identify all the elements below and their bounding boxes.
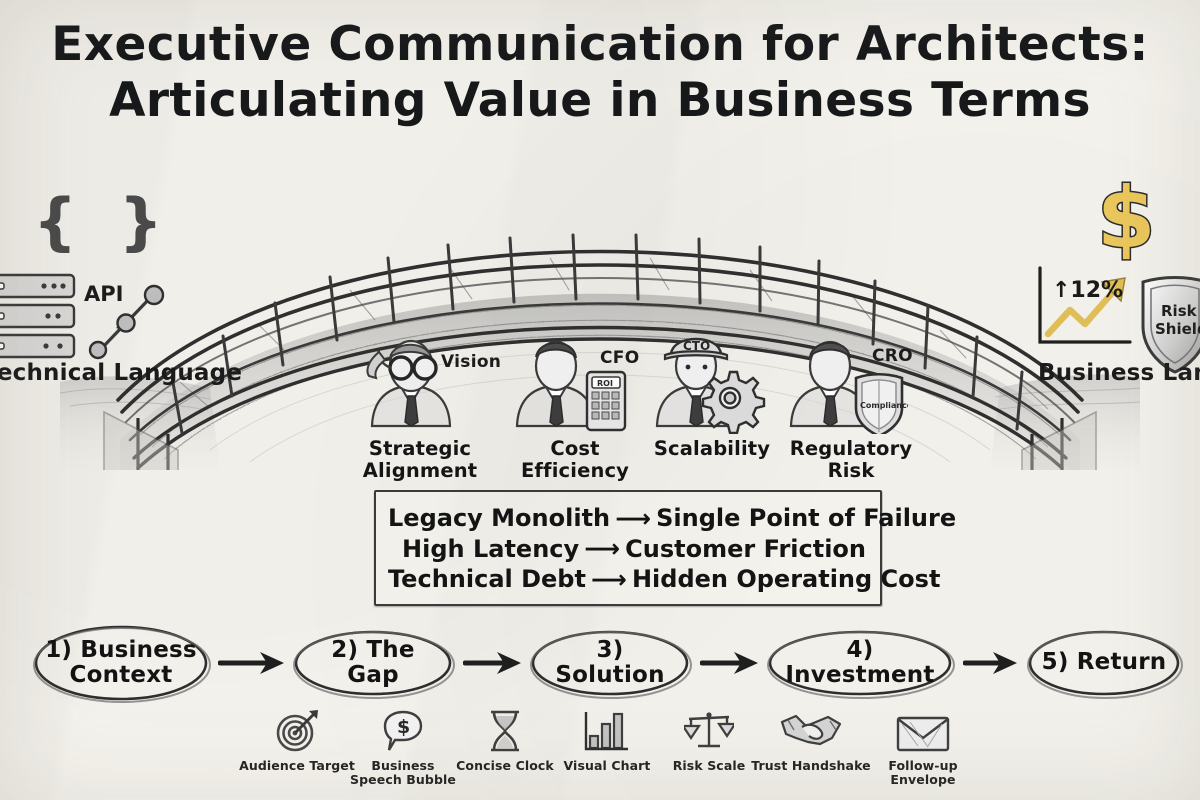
persona-caption-line2: Risk — [776, 460, 926, 482]
calculator-icon: ROI — [587, 372, 625, 430]
translation-to: Customer Friction — [625, 535, 866, 563]
translation-row: Technical Debt ⟶ Hidden Operating Cost — [388, 565, 866, 595]
step-label-line1: 5) Return — [1042, 650, 1167, 675]
flow-arrow-1 — [218, 648, 288, 678]
flow-arrow-2 — [463, 648, 525, 678]
persona-caption-line1: Strategic — [345, 438, 495, 460]
bottom-icon-followup-envelope[interactable]: Follow-up Envelope — [858, 706, 988, 788]
step-label-line1: 4) Investment — [776, 638, 944, 689]
translation-row: High Latency ⟶ Customer Friction — [388, 534, 866, 564]
persona-caption-line1: Cost — [500, 438, 650, 460]
step-label-line1: 3) Solution — [539, 638, 681, 689]
envelope-icon — [858, 706, 988, 754]
growth-chart-icon: ↑12% — [1030, 262, 1136, 358]
step-node-5[interactable]: 5) Return — [1024, 622, 1184, 704]
translation-from: High Latency — [388, 535, 579, 563]
risk-shield-line2: Shield — [1155, 320, 1200, 338]
arrow-right-icon: ⟶ — [579, 534, 625, 564]
step-label-line1: 1) Business — [45, 637, 197, 663]
compliance-shield-label: Compliance — [860, 401, 908, 410]
persona-caption-line1: Regulatory — [776, 438, 926, 460]
arrow-right-icon: ⟶ — [610, 504, 656, 534]
translation-box: Legacy Monolith ⟶ Single Point of Failur… — [374, 490, 882, 606]
persona-cro: Compliance CRO Regulatory Risk — [776, 330, 926, 482]
step-flow: 1) Business Context 2) The Gap 3) Soluti… — [0, 622, 1200, 706]
page-title: Executive Communication for Architects: … — [0, 20, 1200, 126]
step-label-1: 1) Business Context — [30, 622, 212, 704]
persona-caption-line2: Efficiency — [500, 460, 650, 482]
translation-to: Single Point of Failure — [656, 504, 956, 532]
dollar-sign-icon: $ — [1097, 176, 1155, 260]
persona-visionary-with-goggles: Vision Strategic Alignment — [345, 330, 495, 482]
translation-from: Legacy Monolith — [388, 504, 610, 532]
step-node-1[interactable]: 1) Business Context — [30, 622, 212, 704]
gear-icon — [703, 372, 764, 433]
compliance-shield-icon: Compliance — [856, 374, 908, 434]
step-label-4: 4) Investment — [764, 622, 956, 704]
curly-braces-icon: { } — [33, 185, 173, 258]
translation-row: Legacy Monolith ⟶ Single Point of Failur… — [388, 504, 866, 534]
bottom-icon-strip: Audience Target $ Business Speech Bubble — [0, 706, 1200, 800]
server-stack-icon — [0, 272, 82, 368]
flow-arrow-4 — [963, 648, 1021, 678]
step-node-3[interactable]: 3) Solution — [527, 622, 693, 704]
step-label-5: 5) Return — [1024, 622, 1184, 704]
bottom-icon-trust-handshake[interactable]: Trust Handshake — [746, 706, 876, 773]
step-node-2[interactable]: 2) The Gap — [290, 622, 456, 704]
translation-from: Technical Debt — [388, 565, 586, 593]
step-label-2: 2) The Gap — [290, 622, 456, 704]
step-label-line1: 2) The Gap — [302, 638, 444, 689]
svg-text:$: $ — [397, 716, 410, 738]
api-node-graph-icon: API — [78, 268, 174, 364]
step-label-line2: Context — [70, 662, 173, 688]
persona-caption-line1: Scalability — [637, 438, 787, 460]
persona-role-tag: CRO — [872, 346, 913, 366]
technical-language-label: Technical Language — [0, 360, 242, 386]
arrow-right-icon: ⟶ — [586, 565, 632, 595]
bottom-icon-caption-line1: Follow-up Envelope — [858, 759, 988, 788]
title-line-1: Executive Communication for Architects: — [0, 20, 1200, 70]
persona-caption-line2: Alignment — [345, 460, 495, 482]
growth-percent-label: ↑12% — [1052, 278, 1123, 303]
flow-arrow-3 — [700, 648, 762, 678]
step-label-3: 3) Solution — [527, 622, 693, 704]
handshake-icon — [746, 706, 876, 754]
bottom-icon-caption-line1: Trust Handshake — [746, 759, 876, 773]
hardhat-label: CTO — [683, 339, 710, 353]
business-language-label: Business Language — [1038, 360, 1200, 386]
risk-shield-line1: Risk — [1161, 302, 1198, 320]
step-node-4[interactable]: 4) Investment — [764, 622, 956, 704]
title-line-2: Articulating Value in Business Terms — [0, 76, 1200, 126]
bottom-icon-caption-line2: Speech Bubble — [338, 773, 468, 787]
calculator-display: ROI — [597, 379, 613, 388]
api-label: API — [84, 282, 123, 306]
translation-to: Hidden Operating Cost — [632, 565, 940, 593]
